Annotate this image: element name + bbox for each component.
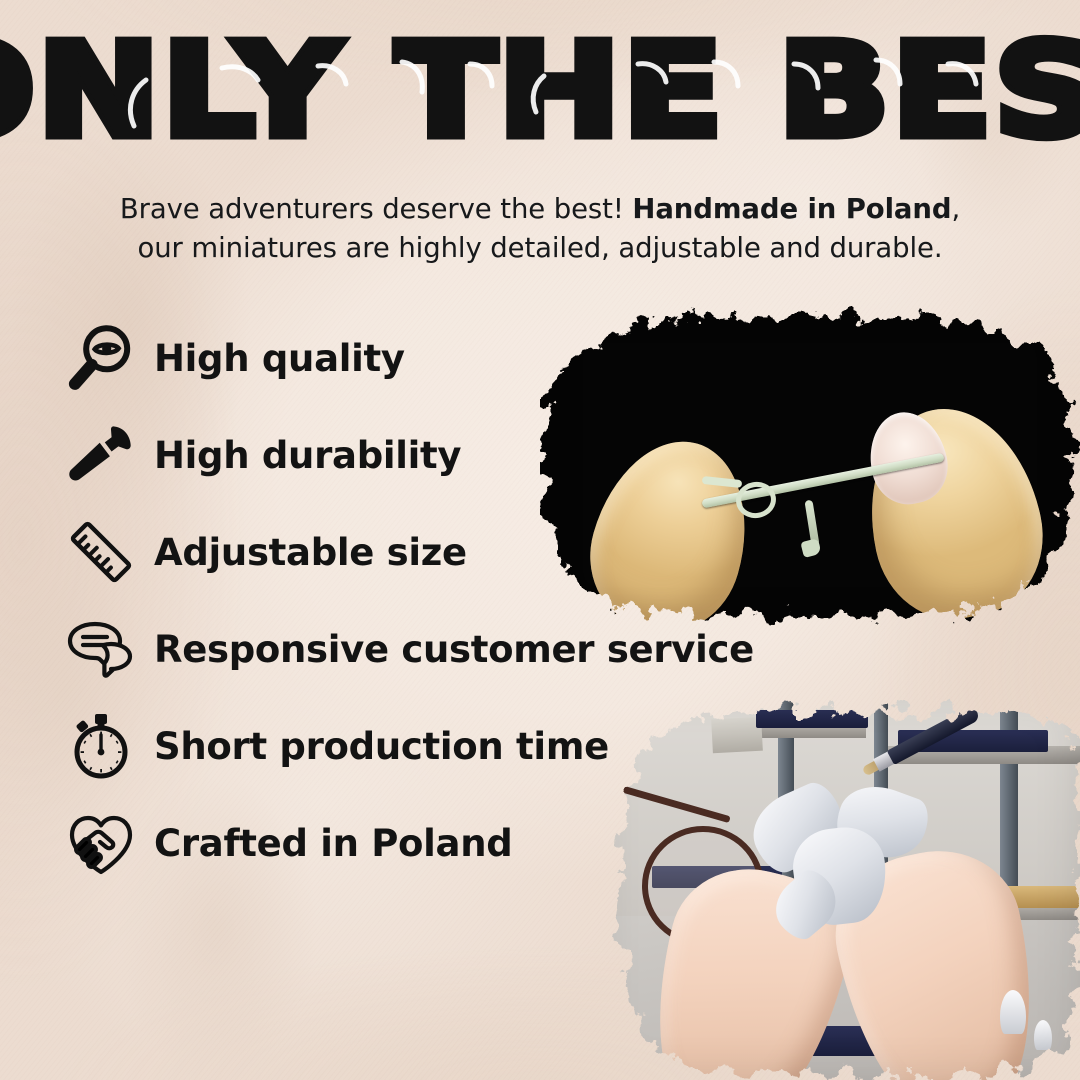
feature-list: High quality High durability	[62, 318, 782, 900]
feature-row-high-quality: High quality	[62, 318, 782, 398]
feature-row-short-production-time: Short production time	[62, 706, 782, 786]
headline-container: ONLY THE BEST	[0, 34, 1080, 147]
handshake-heart-icon	[62, 804, 140, 882]
feature-label: Adjustable size	[154, 531, 467, 574]
subtitle-line-2: our miniatures are highly detailed, adju…	[0, 229, 1080, 268]
subtitle-line-1: Brave adventurers deserve the best! Hand…	[0, 190, 1080, 229]
feature-label: Short production time	[154, 725, 609, 768]
subtitle-text-part2: ,	[951, 193, 960, 225]
ruler-icon	[62, 513, 140, 591]
speech-bubbles-icon	[62, 610, 140, 688]
feature-row-high-durability: High durability	[62, 415, 782, 495]
feature-label: High quality	[154, 337, 405, 380]
hammer-icon	[62, 416, 140, 494]
stopwatch-icon	[62, 707, 140, 785]
feature-row-crafted-in-poland: Crafted in Poland	[62, 803, 782, 883]
feature-label: High durability	[154, 434, 461, 477]
subtitle-text-part1: Brave adventurers deserve the best!	[120, 193, 624, 225]
infographic-canvas: ONLY THE BEST Brave adventurers deserve …	[0, 0, 1080, 1080]
subtitle-bold-handmade: Handmade in Poland	[632, 193, 951, 225]
page-title: ONLY THE BEST	[0, 33, 1080, 149]
feature-label: Crafted in Poland	[154, 822, 512, 865]
feature-label: Responsive customer service	[154, 628, 754, 671]
magnifier-eye-icon	[62, 319, 140, 397]
small-miniature-2	[1034, 1020, 1052, 1050]
feature-row-adjustable-size: Adjustable size	[62, 512, 782, 592]
small-miniature-1	[1000, 990, 1026, 1034]
subtitle: Brave adventurers deserve the best! Hand…	[0, 190, 1080, 268]
feature-row-responsive-customer-service: Responsive customer service	[62, 609, 782, 689]
